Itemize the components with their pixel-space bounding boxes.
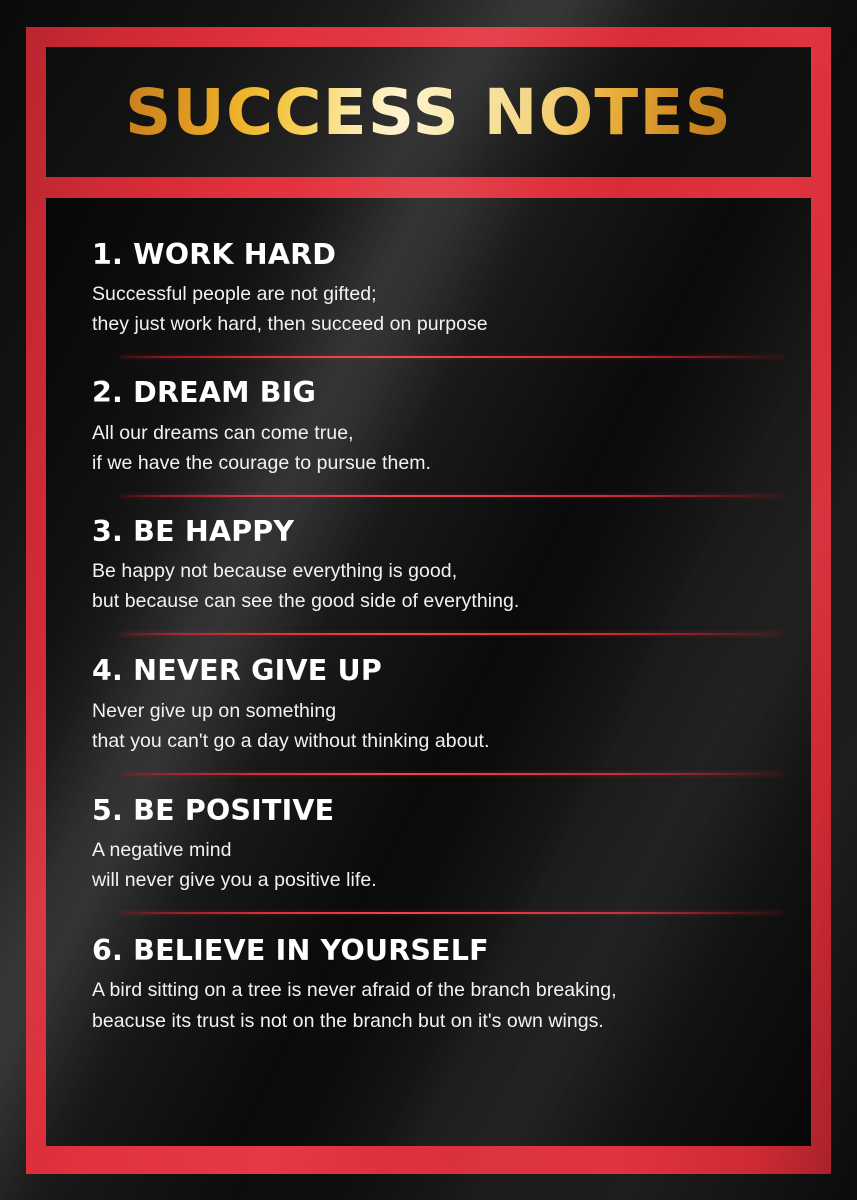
list-item: 3. BE HAPPY Be happy not because everyth… [46,513,811,635]
note-body-line: if we have the courage to pursue them. [92,448,811,478]
note-body-line: but because can see the good side of eve… [92,586,811,616]
note-body: All our dreams can come true, if we have… [92,418,811,478]
note-body-line: A bird sitting on a tree is never afraid… [92,975,811,1005]
page-title: SUCCESS NOTES [125,81,732,144]
note-body: A bird sitting on a tree is never afraid… [92,975,811,1035]
list-item: 2. DREAM BIG All our dreams can come tru… [46,374,811,496]
divider [120,495,783,497]
note-heading: 6. BELIEVE IN YOURSELF [92,934,811,967]
list-item: 4. NEVER GIVE UP Never give up on someth… [46,651,811,774]
note-body: A negative mind will never give you a po… [92,835,811,895]
note-body-line: A negative mind [92,835,811,865]
note-heading: 4. NEVER GIVE UP [92,654,811,687]
success-notes-poster: SUCCESS NOTES 1. WORK HARD Successful pe… [0,0,857,1200]
note-body-line: Successful people are not gifted; [92,279,811,309]
note-body-line: will never give you a positive life. [92,865,811,895]
note-body-line: Be happy not because everything is good, [92,556,811,586]
note-body: Be happy not because everything is good,… [92,556,811,616]
list-item: 1. WORK HARD Successful people are not g… [46,218,811,358]
note-body-line: beacuse its trust is not on the branch b… [92,1006,811,1036]
note-body-line: All our dreams can come true, [92,418,811,448]
note-heading: 2. DREAM BIG [92,376,811,409]
note-body-line: they just work hard, then succeed on pur… [92,309,811,339]
note-heading: 5. BE POSITIVE [92,794,811,827]
note-body: Successful people are not gifted; they j… [92,279,811,339]
divider [120,356,783,358]
notes-list: 1. WORK HARD Successful people are not g… [46,198,811,1036]
divider [120,633,783,635]
note-body: Never give up on something that you can'… [92,696,811,756]
divider [120,773,783,775]
list-item: 6. BELIEVE IN YOURSELF A bird sitting on… [46,930,811,1035]
note-heading: 1. WORK HARD [92,238,811,271]
list-item: 5. BE POSITIVE A negative mind will neve… [46,791,811,914]
notes-panel: 1. WORK HARD Successful people are not g… [46,198,811,1146]
divider [120,912,783,914]
title-panel: SUCCESS NOTES [46,47,811,177]
note-heading: 3. BE HAPPY [92,515,811,548]
note-body-line: Never give up on something [92,696,811,726]
note-body-line: that you can't go a day without thinking… [92,726,811,756]
